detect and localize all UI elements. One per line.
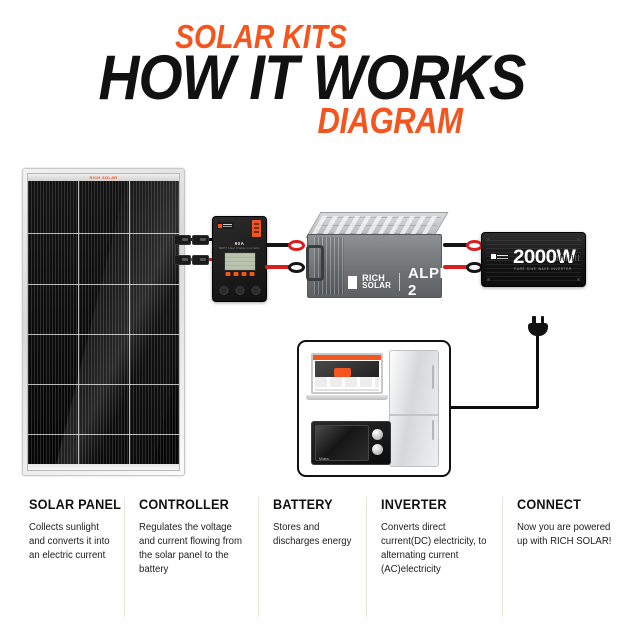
caption-battery: BATTERY Stores and discharges energy [258,497,366,617]
rich-solar-logo-mark [348,276,357,289]
caption-body: Collects sunlight and converts it into a… [29,521,111,563]
title-sub: DIAGRAM [184,104,597,137]
cord-vertical [536,336,539,408]
laptop [311,353,383,400]
panel-brand-label: RICH SOLAR [90,175,118,180]
mc4-connector [192,235,209,245]
battery: RICH SOLAR ALPHA 2 [307,212,442,300]
caption-heading: CONTROLLER [139,497,241,512]
microwave-brand-label: Midea [319,457,329,461]
caption-body: Stores and discharges energy [273,521,353,549]
charge-controller[interactable]: 60A MPPT Solar Charge Controller [212,216,267,302]
controller-ports [219,286,260,295]
panel-top-rail: RICH SOLAR [28,174,179,181]
mc4-connector [174,235,191,245]
appliance-group: Midea [297,340,451,477]
caption-heading: SOLAR PANEL [29,497,109,512]
controller-rating-label: 60A [235,241,244,246]
caption-solar-panel: SOLAR PANEL Collects sunlight and conver… [0,497,124,617]
refrigerator [389,350,439,467]
caption-inverter: INVERTER Converts direct current(DC) ele… [366,497,502,617]
page-title: SOLAR KITS HOW IT WORKS DIAGRAM [0,22,630,137]
controller-brand-icon [217,222,234,229]
inverter-subtitle: PURE SINE WAVE INVERTER [514,267,572,271]
caption-row: SOLAR PANEL Collects sunlight and conver… [0,497,630,617]
mc4-connector [192,255,209,265]
microwave-knob [372,429,383,440]
mc4-connector [174,255,191,265]
caption-controller: CONTROLLER Regulates the voltage and cur… [124,497,258,617]
solar-panel-cells: RICH SOLAR [27,173,180,471]
battery-brand-name: RICH SOLAR [362,274,391,290]
controller-lcd-screen [224,252,256,271]
controller-subtitle: MPPT Solar Charge Controller [219,247,260,250]
caption-heading: BATTERY [273,497,351,512]
microwave-door [315,425,369,461]
ring-lug-negative [288,262,305,273]
laptop-base [306,395,388,400]
battery-branding: RICH SOLAR ALPHA 2 [348,265,464,299]
caption-connect: CONNECT Now you are powered up with RICH… [502,497,630,617]
controller-buttons[interactable] [225,272,254,276]
battery-model-label: ALPHA 2 [408,265,464,299]
controller-terminal-strip [252,220,261,237]
cell-texture [28,174,179,470]
ring-lug-positive [288,240,305,251]
brand-divider [399,273,400,291]
panel-bottom-rail [28,464,179,470]
caption-heading: INVERTER [381,497,485,512]
ac-plug [528,323,548,336]
battery-body: RICH SOLAR ALPHA 2 [307,234,442,298]
inverter-vents [557,255,579,261]
inverter-brand-icon [491,253,509,262]
diagram-page: SOLAR KITS HOW IT WORKS DIAGRAM RICH SOL… [0,0,630,630]
caption-body: Now you are powered up with RICH SOLAR! [517,521,616,549]
title-main: HOW IT WORKS [26,50,598,108]
caption-body: Regulates the voltage and current flowin… [139,521,244,577]
caption-heading: CONNECT [517,497,614,512]
laptop-screen [311,353,383,394]
microwave-knob [372,444,383,455]
solar-panel: RICH SOLAR [22,168,185,476]
microwave: Midea [311,421,391,465]
cord-horizontal [446,406,538,409]
caption-body: Converts direct current(DC) electricity,… [381,521,488,577]
inverter: 2000W PURE SINE WAVE INVERTER [481,232,586,287]
battery-handle [306,245,324,281]
